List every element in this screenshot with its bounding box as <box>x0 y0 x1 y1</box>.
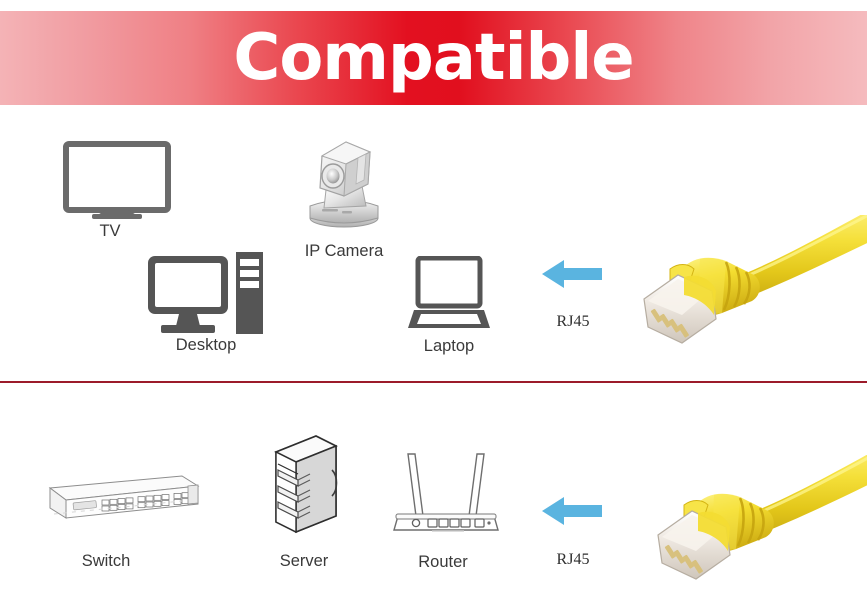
device-tv <box>62 140 172 220</box>
tv-icon <box>62 140 172 220</box>
device-ip-camera <box>300 134 388 234</box>
device-laptop <box>408 256 490 332</box>
device-switch-label: Switch <box>26 552 186 571</box>
ip-camera-icon <box>300 134 388 234</box>
device-ip-camera-label: IP Camera <box>264 242 424 261</box>
compatibility-diagram: Compatible TV <box>0 0 867 592</box>
network-switch-icon <box>32 470 200 532</box>
device-router <box>392 448 500 536</box>
laptop-icon <box>408 256 490 332</box>
page-title: Compatible <box>0 11 867 105</box>
device-server <box>264 432 342 536</box>
device-server-label: Server <box>224 552 384 571</box>
device-desktop-label: Desktop <box>126 336 286 355</box>
rj45-cable-icon <box>640 455 867 592</box>
server-rack-icon <box>264 432 342 536</box>
device-switch <box>32 470 200 532</box>
section-divider <box>0 381 867 383</box>
device-desktop <box>148 252 264 336</box>
rj45-cable-bottom <box>640 455 867 592</box>
device-laptop-label: Laptop <box>369 337 529 356</box>
device-tv-label: TV <box>30 222 190 241</box>
arrow-left-top <box>542 258 604 290</box>
arrow-left-icon <box>542 258 604 290</box>
rj45-label-top: RJ45 <box>493 313 653 331</box>
arrow-left-bottom <box>542 495 604 527</box>
rj45-cable-icon <box>630 215 867 355</box>
rj45-label-bottom: RJ45 <box>493 551 653 569</box>
desktop-icon <box>148 252 264 336</box>
arrow-left-icon <box>542 495 604 527</box>
header-banner: Compatible <box>0 11 867 105</box>
rj45-cable-top <box>630 215 867 355</box>
wifi-router-icon <box>392 448 500 536</box>
